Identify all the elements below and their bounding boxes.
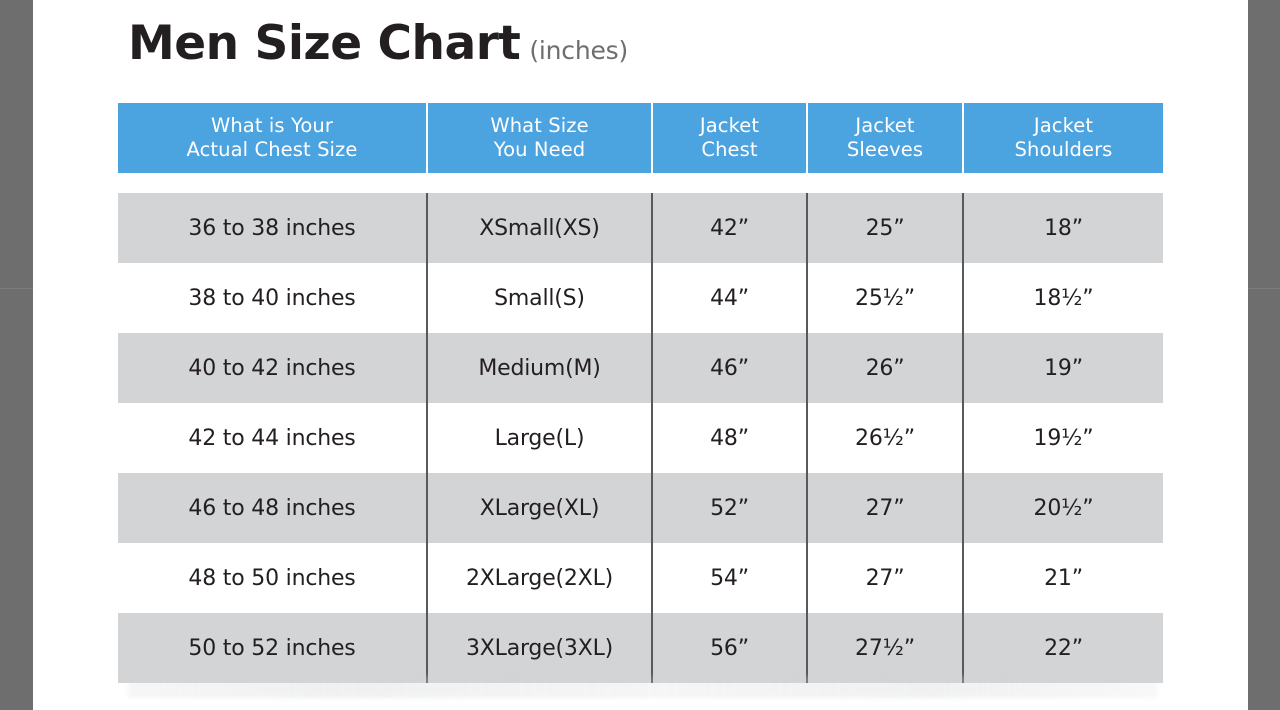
cell-jacket-sleeves: 26½” bbox=[806, 403, 962, 473]
cell-jacket-shoulders: 22” bbox=[962, 613, 1163, 683]
table-row: 40 to 42 inches Medium(M) 46” 26” 19” bbox=[118, 333, 1163, 403]
table-row: 48 to 50 inches 2XLarge(2XL) 54” 27” 21” bbox=[118, 543, 1163, 613]
cell-jacket-chest: 48” bbox=[651, 403, 806, 473]
table-header-row: What is Your Actual Chest Size What Size… bbox=[118, 103, 1163, 173]
cell-jacket-shoulders: 21” bbox=[962, 543, 1163, 613]
cell-jacket-shoulders: 19½” bbox=[962, 403, 1163, 473]
cell-jacket-sleeves: 26” bbox=[806, 333, 962, 403]
cell-jacket-chest: 42” bbox=[651, 193, 806, 263]
cell-actual-chest: 42 to 44 inches bbox=[118, 403, 426, 473]
column-header-jacket-chest: Jacket Chest bbox=[651, 103, 806, 173]
table-row: 38 to 40 inches Small(S) 44” 25½” 18½” bbox=[118, 263, 1163, 333]
column-header-line2: Actual Chest Size bbox=[118, 138, 426, 162]
column-header-line2: Shoulders bbox=[964, 138, 1163, 162]
cell-jacket-sleeves: 25½” bbox=[806, 263, 962, 333]
cell-jacket-shoulders: 19” bbox=[962, 333, 1163, 403]
column-header-line2: Chest bbox=[653, 138, 806, 162]
cell-actual-chest: 46 to 48 inches bbox=[118, 473, 426, 543]
column-header-line2: Sleeves bbox=[808, 138, 962, 162]
page-title: Men Size Chart(inches) bbox=[128, 20, 628, 67]
cell-size-needed: Large(L) bbox=[426, 403, 651, 473]
cell-jacket-shoulders: 20½” bbox=[962, 473, 1163, 543]
column-header-actual-chest-size: What is Your Actual Chest Size bbox=[118, 103, 426, 173]
cell-size-needed: 3XLarge(3XL) bbox=[426, 613, 651, 683]
cell-size-needed: Small(S) bbox=[426, 263, 651, 333]
cell-jacket-sleeves: 27” bbox=[806, 473, 962, 543]
column-header-jacket-shoulders: Jacket Shoulders bbox=[962, 103, 1163, 173]
cell-jacket-chest: 56” bbox=[651, 613, 806, 683]
cell-actual-chest: 40 to 42 inches bbox=[118, 333, 426, 403]
cell-size-needed: XLarge(XL) bbox=[426, 473, 651, 543]
cell-size-needed: 2XLarge(2XL) bbox=[426, 543, 651, 613]
cell-jacket-chest: 54” bbox=[651, 543, 806, 613]
cell-jacket-chest: 44” bbox=[651, 263, 806, 333]
cell-jacket-chest: 52” bbox=[651, 473, 806, 543]
cell-actual-chest: 50 to 52 inches bbox=[118, 613, 426, 683]
page-title-main: Men Size Chart bbox=[128, 16, 520, 71]
column-header-line1: Jacket bbox=[653, 114, 806, 138]
cell-jacket-sleeves: 25” bbox=[806, 193, 962, 263]
cell-jacket-shoulders: 18” bbox=[962, 193, 1163, 263]
table-row: 50 to 52 inches 3XLarge(3XL) 56” 27½” 22… bbox=[118, 613, 1163, 683]
cell-size-needed: XSmall(XS) bbox=[426, 193, 651, 263]
cell-jacket-sleeves: 27” bbox=[806, 543, 962, 613]
scan-ghost-artifact bbox=[128, 676, 1158, 698]
cell-size-needed: Medium(M) bbox=[426, 333, 651, 403]
document-page: Men Size Chart(inches) What is Your Actu… bbox=[33, 0, 1248, 710]
column-header-line2: You Need bbox=[428, 138, 651, 162]
column-header-jacket-sleeves: Jacket Sleeves bbox=[806, 103, 962, 173]
cell-jacket-sleeves: 27½” bbox=[806, 613, 962, 683]
right-letterbox-band bbox=[1248, 0, 1280, 710]
column-header-line1: What Size bbox=[428, 114, 651, 138]
cell-actual-chest: 48 to 50 inches bbox=[118, 543, 426, 613]
cell-actual-chest: 38 to 40 inches bbox=[118, 263, 426, 333]
column-header-size-you-need: What Size You Need bbox=[426, 103, 651, 173]
left-letterbox-band bbox=[0, 0, 33, 710]
table-row: 46 to 48 inches XLarge(XL) 52” 27” 20½” bbox=[118, 473, 1163, 543]
table-row: 42 to 44 inches Large(L) 48” 26½” 19½” bbox=[118, 403, 1163, 473]
cell-actual-chest: 36 to 38 inches bbox=[118, 193, 426, 263]
cell-jacket-chest: 46” bbox=[651, 333, 806, 403]
page-title-unit: (inches) bbox=[529, 36, 628, 65]
column-header-line1: Jacket bbox=[964, 114, 1163, 138]
screenshot-root: Men Size Chart(inches) What is Your Actu… bbox=[0, 0, 1280, 710]
column-header-line1: Jacket bbox=[808, 114, 962, 138]
column-header-line1: What is Your bbox=[118, 114, 426, 138]
cell-jacket-shoulders: 18½” bbox=[962, 263, 1163, 333]
men-size-chart-table: What is Your Actual Chest Size What Size… bbox=[118, 103, 1163, 683]
table-row: 36 to 38 inches XSmall(XS) 42” 25” 18” bbox=[118, 193, 1163, 263]
